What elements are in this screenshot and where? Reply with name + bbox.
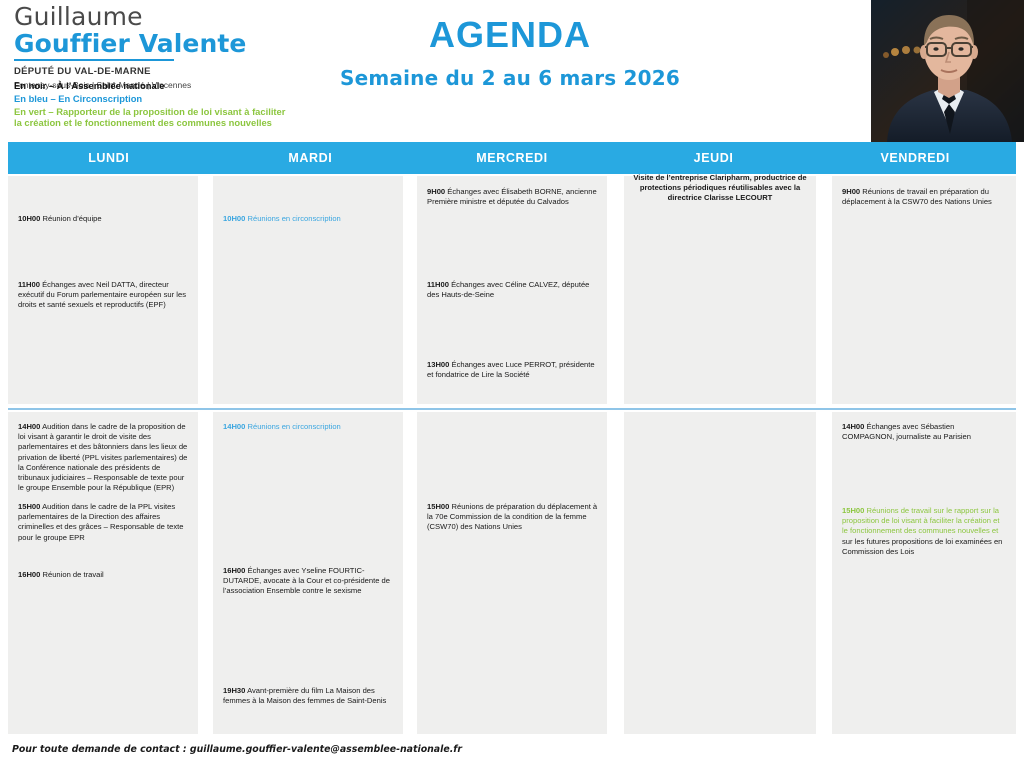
- mardi-morning-cell: [213, 176, 403, 404]
- day-header-mardi: MARDI: [210, 142, 412, 174]
- event-text: Réunions en circonscription: [245, 422, 340, 431]
- event-time: 9H00: [427, 187, 445, 196]
- first-name: Guillaume: [14, 4, 344, 30]
- event-text: Réunion d’équipe: [40, 214, 101, 223]
- event-mardi-4: 19H30 Avant-première du film La Maison d…: [223, 686, 394, 706]
- event-text: Audition dans le cadre de la proposition…: [18, 422, 187, 492]
- event-text: Réunions en circonscription: [245, 214, 340, 223]
- event-lundi-5: 16H00 Réunion de travail: [18, 570, 189, 580]
- identity-divider: [14, 59, 174, 61]
- day-column-mardi: 10H00 Réunions en circonscription 14H00 …: [213, 176, 403, 734]
- portrait-image: [871, 0, 1024, 142]
- event-vendredi-2: 14H00 Échanges avec Sébastien COMPAGNON,…: [842, 422, 1007, 442]
- event-text: Visite de l’entreprise Claripharm, produ…: [633, 173, 806, 202]
- event-time: 10H00: [223, 214, 245, 223]
- legend-bleu: En bleu – En Circonscription: [14, 93, 334, 105]
- event-time: 15H00: [842, 506, 864, 515]
- event-time: 14H00: [18, 422, 40, 431]
- event-mercredi-4: 15H00 Réunions de préparation du déplace…: [427, 502, 598, 533]
- event-time: 11H00: [18, 280, 40, 289]
- event-jeudi-1: Visite de l’entreprise Claripharm, produ…: [631, 173, 809, 204]
- event-text: Échanges avec Céline CALVEZ, députée des…: [427, 280, 589, 299]
- event-text: Réunions de travail sur le rapport sur l…: [842, 506, 999, 535]
- day-header-vendredi: VENDREDI: [814, 142, 1016, 174]
- event-text: Échanges avec Élisabeth BORNE, ancienne …: [427, 187, 597, 206]
- event-mardi-3: 16H00 Échanges avec Yseline FOURTIC-DUTA…: [223, 566, 394, 597]
- mercredi-afternoon-cell: [417, 412, 607, 734]
- event-lundi-3: 14H00 Audition dans le cadre de la propo…: [18, 422, 189, 493]
- event-time: 14H00: [842, 422, 864, 431]
- event-lundi-2: 11H00 Échanges avec Neil DATTA, directeu…: [18, 280, 189, 311]
- event-text: Réunion de travail: [40, 570, 103, 579]
- legend-noir: En noir – À l’Assemblée nationale: [14, 80, 334, 92]
- day-header-jeudi: JEUDI: [613, 142, 815, 174]
- vendredi-morning-cell: [832, 176, 1016, 404]
- identity-role: DÉPUTÉ DU VAL-DE-MARNE: [14, 65, 344, 78]
- event-time: 19H30: [223, 686, 245, 695]
- event-text: Réunions de préparation du déplacement à…: [427, 502, 597, 531]
- vendredi-afternoon-cell: [832, 412, 1016, 734]
- event-mardi-2: 14H00 Réunions en circonscription: [223, 422, 394, 432]
- event-time: 10H00: [18, 214, 40, 223]
- day-column-vendredi: 9H00 Réunions de travail en préparation …: [832, 176, 1016, 734]
- legend-vert-line2: la création et le fonctionnement des com…: [14, 117, 334, 129]
- day-column-jeudi: Visite de l’entreprise Claripharm, produ…: [624, 176, 816, 734]
- weekday-header-bar: LUNDI MARDI MERCREDI JEUDI VENDREDI: [8, 142, 1016, 174]
- jeudi-afternoon-cell: [624, 412, 816, 734]
- event-mercredi-2: 11H00 Échanges avec Céline CALVEZ, déput…: [427, 280, 598, 300]
- event-lundi-1: 10H00 Réunion d’équipe: [18, 214, 189, 224]
- agenda-page: Guillaume Gouffier Valente DÉPUTÉ DU VAL…: [0, 0, 1024, 767]
- event-mercredi-1: 9H00 Échanges avec Élisabeth BORNE, anci…: [427, 187, 598, 207]
- page-header: Guillaume Gouffier Valente DÉPUTÉ DU VAL…: [0, 0, 1024, 142]
- event-time: 13H00: [427, 360, 449, 369]
- event-text: Avant-première du film La Maison des fem…: [223, 686, 386, 705]
- day-column-lundi: 10H00 Réunion d’équipe 11H00 Échanges av…: [8, 176, 198, 734]
- event-mercredi-3: 13H00 Échanges avec Luce PERROT, préside…: [427, 360, 598, 380]
- event-time: 11H00: [427, 280, 449, 289]
- day-column-mercredi: 9H00 Échanges avec Élisabeth BORNE, anci…: [417, 176, 607, 734]
- title-block: AGENDA Semaine du 2 au 6 mars 2026: [300, 14, 720, 90]
- page-title: AGENDA: [300, 14, 720, 56]
- event-time: 15H00: [427, 502, 449, 511]
- event-mardi-1: 10H00 Réunions en circonscription: [223, 214, 394, 224]
- event-text: Échanges avec Neil DATTA, directeur exéc…: [18, 280, 186, 309]
- event-text: Réunions de travail en préparation du dé…: [842, 187, 992, 206]
- agenda-grid: 10H00 Réunion d’équipe 11H00 Échanges av…: [0, 176, 1024, 734]
- portrait-photo: [871, 0, 1024, 142]
- event-time: 14H00: [223, 422, 245, 431]
- event-time: 15H00: [18, 502, 40, 511]
- page-subtitle: Semaine du 2 au 6 mars 2026: [300, 66, 720, 90]
- event-time: 16H00: [18, 570, 40, 579]
- event-text: Échanges avec Yseline FOURTIC-DUTARDE, a…: [223, 566, 390, 595]
- legend-vert-line1: En vert – Rapporteur de la proposition d…: [14, 106, 334, 118]
- event-time: 9H00: [842, 187, 860, 196]
- event-text: Audition dans le cadre de la PPL visites…: [18, 502, 183, 542]
- event-lundi-4: 15H00 Audition dans le cadre de la PPL v…: [18, 502, 189, 543]
- day-header-mercredi: MERCREDI: [411, 142, 613, 174]
- event-vendredi-1: 9H00 Réunions de travail en préparation …: [842, 187, 1007, 207]
- day-header-lundi: LUNDI: [8, 142, 210, 174]
- event-text-continued: sur les futures propositions de loi exam…: [842, 537, 1002, 556]
- footer-contact: Pour toute demande de contact : guillaum…: [12, 744, 462, 755]
- event-vendredi-3: 15H00 Réunions de travail sur le rapport…: [842, 506, 1007, 557]
- last-name: Gouffier Valente: [14, 30, 344, 57]
- event-text: Échanges avec Luce PERROT, présidente et…: [427, 360, 595, 379]
- identity-block: Guillaume Gouffier Valente DÉPUTÉ DU VAL…: [14, 4, 344, 92]
- legend-block: En noir – À l’Assemblée nationale En ble…: [14, 80, 334, 129]
- jeudi-morning-cell: [624, 176, 816, 404]
- event-time: 16H00: [223, 566, 245, 575]
